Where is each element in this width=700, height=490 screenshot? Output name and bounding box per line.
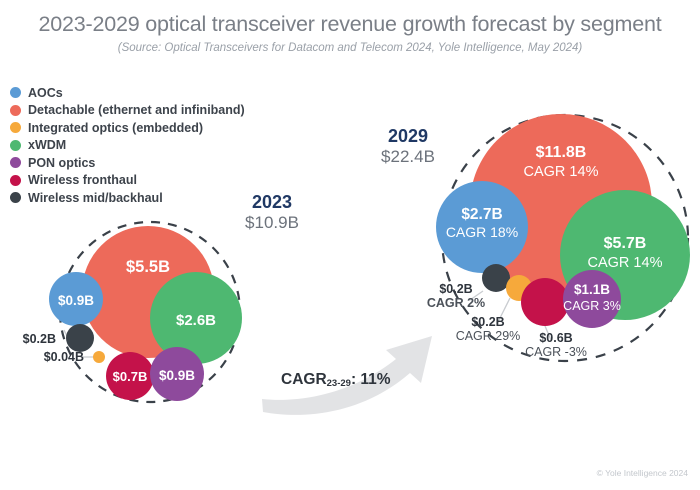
bubble-2023-aocs-value: $0.9B bbox=[58, 293, 94, 308]
copyright-credit: © Yole Intelligence 2024 bbox=[597, 468, 688, 478]
bubble-2023-fronthaul-value: $0.7B bbox=[113, 369, 148, 384]
callout-cagr: CAGR -3% bbox=[512, 345, 600, 359]
bubble-2029-pon-cagr: CAGR 3% bbox=[563, 299, 621, 313]
callout-2029-backhaul: $0.2B CAGR 2% bbox=[410, 282, 502, 310]
callout-2023-backhaul: $0.2B bbox=[0, 332, 56, 346]
bubble-2023-backhaul[interactable] bbox=[66, 324, 94, 352]
bubble-2029-aocs-cagr: CAGR 18% bbox=[446, 224, 518, 240]
cluster-2023: $5.5B $2.6B $0.9B $0.9B $0.7B bbox=[49, 222, 242, 402]
callout-value: $0.6B bbox=[512, 331, 600, 345]
bubble-2023-pon-value: $0.9B bbox=[159, 368, 195, 383]
bubble-2023-xwdm-value: $2.6B bbox=[176, 312, 216, 329]
bubble-2029-xwdm-cagr: CAGR 14% bbox=[588, 255, 663, 271]
cagr-arrow-label-period: 23-29 bbox=[327, 378, 351, 389]
bubble-chart-canvas: $5.5B $2.6B $0.9B $0.9B $0.7B $11.8B CAG… bbox=[0, 0, 700, 490]
bubble-2029-xwdm-value: $5.7B bbox=[604, 235, 647, 252]
bubble-2029-detachable-cagr: CAGR 14% bbox=[524, 164, 599, 180]
callout-2029-fronthaul: $0.6B CAGR -3% bbox=[512, 331, 600, 359]
cagr-arrow-label-value: : 11% bbox=[351, 371, 391, 388]
bubble-2029-detachable-value: $11.8B bbox=[536, 144, 587, 161]
callout-cagr: CAGR 2% bbox=[410, 296, 502, 310]
callout-2023-integrated: $0.04B bbox=[6, 350, 84, 364]
callout-value: $0.2B bbox=[410, 282, 502, 296]
cagr-arrow-label: CAGR23-29: 11% bbox=[281, 371, 391, 389]
callout-value: $0.2B bbox=[0, 332, 56, 346]
bubble-2023-integrated[interactable] bbox=[93, 351, 105, 363]
bubble-2023-detachable-value: $5.5B bbox=[126, 258, 170, 276]
bubble-2029-aocs-value: $2.7B bbox=[461, 206, 502, 223]
callout-value: $0.2B bbox=[438, 315, 538, 329]
bubble-2029-pon-value: $1.1B bbox=[574, 282, 610, 297]
callout-value: $0.04B bbox=[6, 350, 84, 364]
chart-root: 2023-2029 optical transceiver revenue gr… bbox=[0, 0, 700, 490]
cagr-arrow-label-main: CAGR bbox=[281, 371, 327, 388]
